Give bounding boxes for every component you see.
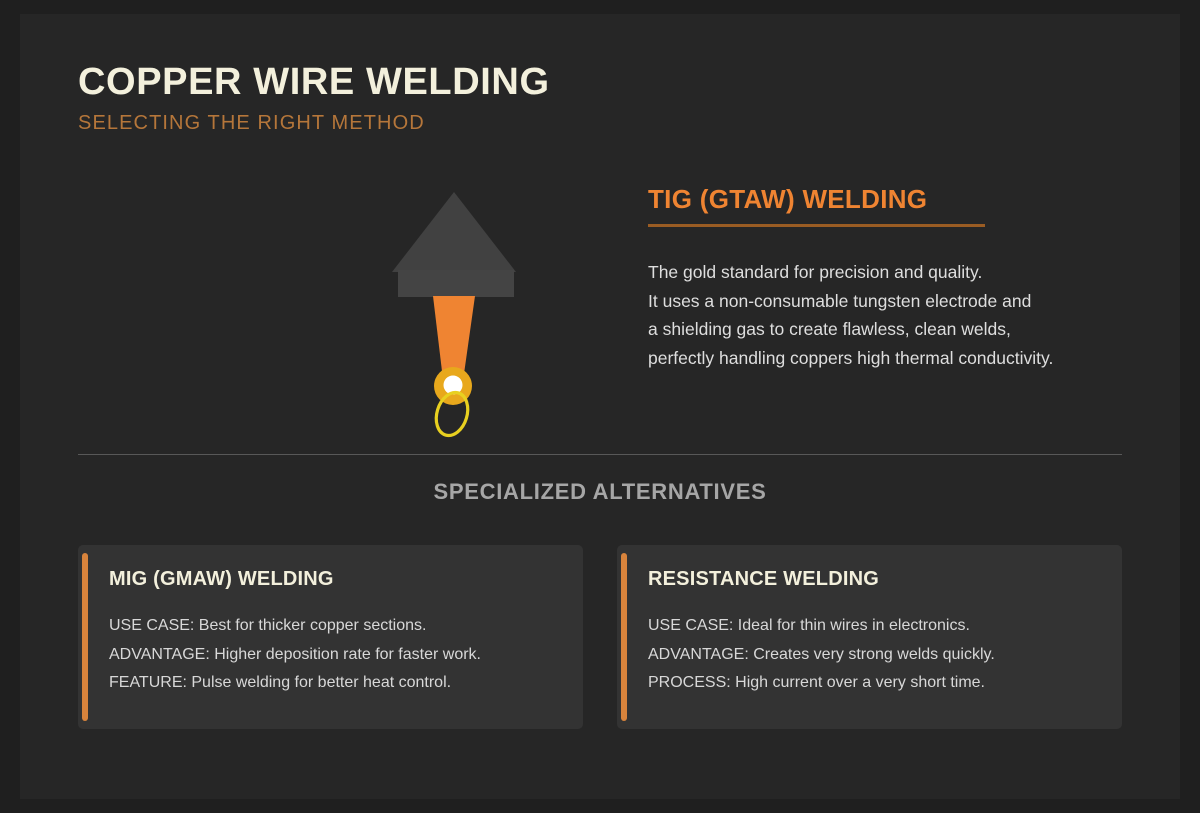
torch-handle-bar-icon [398, 270, 514, 297]
infographic-poster: COPPER WIRE WELDING SELECTING THE RIGHT … [0, 0, 1200, 813]
page-subtitle: SELECTING THE RIGHT METHOD [78, 112, 778, 134]
featured-method-body: The gold standard for precision and qual… [648, 258, 1148, 372]
featured-heading-underline [648, 224, 985, 227]
card-detail-line: USE CASE: Ideal for thin wires in electr… [648, 612, 1108, 641]
card-detail-line: PROCESS: High current over a very short … [648, 669, 1108, 698]
card-accent-bar [621, 553, 627, 721]
featured-method-block: TIG (GTAW) WELDING The gold standard for… [648, 184, 1148, 372]
torch-triangle-body-icon [392, 192, 516, 272]
featured-body-line: It uses a non-consumable tungsten electr… [648, 287, 1148, 316]
featured-body-line: a shielding gas to create flawless, clea… [648, 315, 1148, 344]
card-detail-line: ADVANTAGE: Creates very strong welds qui… [648, 641, 1108, 670]
card-title: MIG (GMAW) WELDING [109, 568, 569, 591]
poster-header: COPPER WIRE WELDING SELECTING THE RIGHT … [78, 62, 778, 134]
page-title: COPPER WIRE WELDING [78, 62, 778, 103]
alternatives-section-heading: SPECIALIZED ALTERNATIVES [0, 479, 1200, 505]
alternative-card-resistance[interactable]: RESISTANCE WELDING USE CASE: Ideal for t… [617, 545, 1122, 729]
section-divider [78, 454, 1122, 455]
card-detail-line: USE CASE: Best for thicker copper sectio… [109, 612, 569, 641]
featured-body-line: The gold standard for precision and qual… [648, 258, 1148, 287]
card-accent-bar [82, 553, 88, 721]
featured-body-line: perfectly handling coppers high thermal … [648, 344, 1148, 373]
alternative-card-mig[interactable]: MIG (GMAW) WELDING USE CASE: Best for th… [78, 545, 583, 729]
welding-torch-illustration [330, 180, 590, 440]
card-detail-lines: USE CASE: Best for thicker copper sectio… [109, 612, 569, 698]
featured-method-heading: TIG (GTAW) WELDING [648, 184, 1148, 215]
card-content: RESISTANCE WELDING USE CASE: Ideal for t… [648, 568, 1108, 698]
card-detail-line: FEATURE: Pulse welding for better heat c… [109, 669, 569, 698]
card-detail-lines: USE CASE: Ideal for thin wires in electr… [648, 612, 1108, 698]
card-detail-line: ADVANTAGE: Higher deposition rate for fa… [109, 641, 569, 670]
card-title: RESISTANCE WELDING [648, 568, 1108, 591]
card-content: MIG (GMAW) WELDING USE CASE: Best for th… [109, 568, 569, 698]
